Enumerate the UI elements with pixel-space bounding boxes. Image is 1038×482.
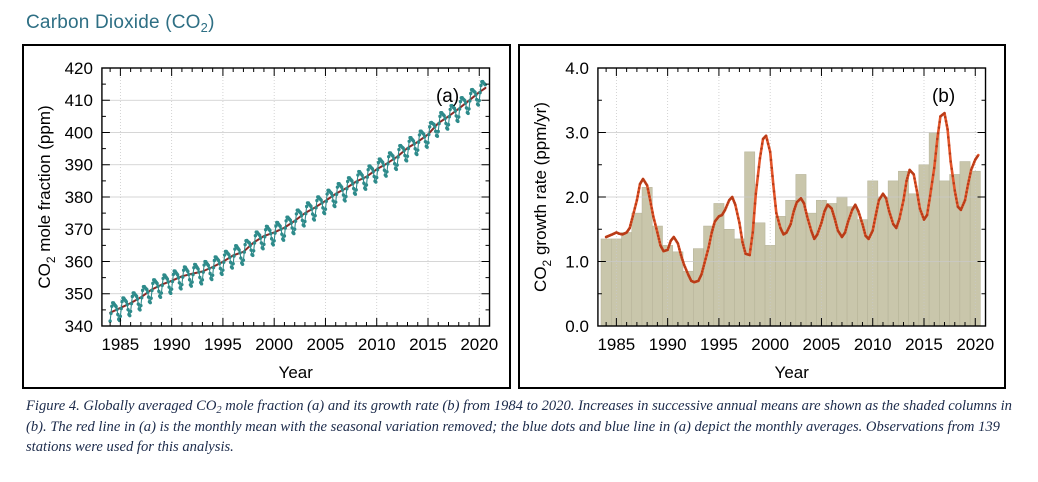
growth-rate-dot bbox=[648, 199, 650, 202]
growth-rate-dot bbox=[936, 138, 938, 141]
monthly-dot bbox=[418, 133, 421, 136]
monthly-dot bbox=[449, 108, 452, 111]
monthly-dot bbox=[405, 159, 408, 162]
monthly-dot bbox=[366, 175, 369, 178]
y-axis-title: CO2 mole fraction (ppm) bbox=[35, 105, 58, 288]
x-tick-label: 2000 bbox=[751, 335, 789, 354]
growth-rate-dot bbox=[848, 214, 850, 217]
growth-rate-dot bbox=[683, 266, 685, 269]
growth-rate-dot bbox=[965, 191, 967, 194]
growth-rate-dot bbox=[628, 227, 630, 230]
growth-rate-dot bbox=[667, 246, 669, 249]
monthly-dot bbox=[222, 261, 225, 264]
growth-rate-dot bbox=[928, 194, 930, 197]
growth-rate-dot bbox=[820, 222, 822, 225]
growth-rate-dot bbox=[708, 242, 710, 245]
growth-rate-dot bbox=[764, 134, 766, 137]
growth-rate-dot bbox=[736, 213, 738, 216]
monthly-dot bbox=[331, 194, 334, 197]
panel-b-box: 198519901995200020052010201520200.01.02.… bbox=[518, 44, 1007, 389]
monthly-dot bbox=[464, 101, 467, 104]
monthly-dot bbox=[146, 291, 149, 294]
growth-rate-dot bbox=[794, 205, 796, 208]
growth-rate-dot bbox=[914, 181, 916, 184]
x-tick-label: 2010 bbox=[358, 335, 396, 354]
monthly-dot bbox=[344, 195, 347, 198]
growth-rate-dot bbox=[654, 223, 656, 226]
growth-rate-dot bbox=[749, 243, 751, 246]
growth-rate-dot bbox=[753, 202, 755, 205]
growth-rate-dot bbox=[712, 223, 714, 226]
growth-rate-dot bbox=[778, 223, 780, 226]
growth-rate-dot bbox=[684, 268, 686, 271]
panel-tag-label: (a) bbox=[436, 86, 459, 107]
growth-rate-dot bbox=[751, 231, 753, 234]
growth-rate-dot bbox=[772, 183, 774, 186]
growth-rate-dot bbox=[710, 231, 712, 234]
annual-column bbox=[600, 239, 610, 326]
growth-rate-dot bbox=[791, 213, 793, 216]
growth-rate-dot bbox=[817, 230, 819, 233]
monthly-dot bbox=[171, 280, 174, 283]
panel-b-chart: 198519901995200020052010201520200.01.02.… bbox=[520, 46, 1005, 387]
growth-rate-dot bbox=[916, 194, 918, 197]
growth-rate-dot bbox=[725, 204, 727, 207]
monthly-dot bbox=[386, 162, 389, 165]
growth-rate-dot bbox=[753, 212, 755, 215]
growth-rate-dot bbox=[808, 226, 810, 229]
y-tick-label: 420 bbox=[65, 59, 93, 78]
monthly-dot bbox=[396, 163, 399, 166]
monthly-dot bbox=[177, 276, 180, 279]
monthly-dot bbox=[261, 247, 264, 250]
monthly-dot bbox=[407, 140, 410, 143]
monthly-dot bbox=[478, 99, 481, 102]
growth-rate-dot bbox=[678, 251, 680, 254]
caption-subscript: 2 bbox=[216, 405, 221, 416]
monthly-dot bbox=[187, 273, 190, 276]
monthly-dot bbox=[179, 287, 182, 290]
y-tick-label: 2.0 bbox=[565, 188, 589, 207]
monthly-dot bbox=[474, 93, 477, 96]
growth-rate-dot bbox=[740, 236, 742, 239]
x-tick-label: 2015 bbox=[905, 335, 943, 354]
growth-rate-dot bbox=[861, 226, 863, 229]
growth-rate-dot bbox=[711, 228, 713, 231]
growth-rate-dot bbox=[712, 226, 714, 229]
growth-rate-dot bbox=[757, 166, 759, 169]
growth-rate-dot bbox=[818, 227, 820, 230]
figure-panels: 1985199019952000200520102015202034035036… bbox=[22, 44, 1006, 389]
monthly-dot bbox=[304, 212, 307, 215]
growth-rate-dot bbox=[789, 223, 791, 226]
growth-rate-dot bbox=[849, 212, 851, 215]
monthly-dot bbox=[467, 107, 470, 110]
x-axis-title: Year bbox=[279, 363, 314, 382]
monthly-dot bbox=[263, 235, 266, 238]
monthly-dot bbox=[202, 270, 205, 273]
monthly-dot bbox=[448, 115, 451, 118]
monthly-dot bbox=[365, 183, 368, 186]
monthly-dot bbox=[210, 278, 213, 281]
annual-column bbox=[867, 181, 877, 326]
growth-rate-dot bbox=[749, 248, 751, 251]
monthly-dot bbox=[374, 180, 377, 183]
growth-rate-dot bbox=[919, 210, 921, 213]
monthly-dot bbox=[402, 149, 405, 152]
growth-rate-dot bbox=[951, 175, 953, 178]
monthly-dot bbox=[180, 283, 183, 286]
growth-rate-dot bbox=[756, 175, 758, 178]
growth-rate-dot bbox=[752, 222, 754, 225]
growth-rate-dot bbox=[885, 200, 887, 203]
growth-rate-dot bbox=[831, 210, 833, 213]
growth-rate-dot bbox=[895, 227, 897, 230]
growth-rate-dot bbox=[685, 271, 687, 274]
growth-rate-dot bbox=[742, 247, 744, 250]
monthly-dot bbox=[198, 276, 201, 279]
growth-rate-dot bbox=[944, 116, 946, 119]
growth-rate-dot bbox=[857, 210, 859, 213]
monthly-dot bbox=[125, 300, 128, 303]
monthly-dot bbox=[395, 168, 398, 171]
growth-rate-dot bbox=[759, 152, 761, 155]
growth-rate-dot bbox=[776, 216, 778, 219]
monthly-dot bbox=[283, 234, 286, 237]
growth-rate-dot bbox=[889, 216, 891, 219]
monthly-dot bbox=[314, 206, 317, 209]
monthly-dot bbox=[223, 253, 226, 256]
growth-rate-dot bbox=[656, 234, 658, 237]
growth-rate-dot bbox=[806, 219, 808, 222]
monthly-dot bbox=[437, 122, 440, 125]
growth-rate-dot bbox=[903, 189, 905, 192]
growth-rate-dot bbox=[804, 209, 806, 212]
monthly-dot bbox=[436, 135, 439, 138]
monthly-dot bbox=[478, 91, 481, 94]
monthly-dot bbox=[438, 115, 441, 118]
monthly-dot bbox=[302, 224, 305, 227]
monthly-dot bbox=[459, 100, 462, 103]
growth-rate-dot bbox=[971, 164, 973, 167]
growth-rate-dot bbox=[833, 218, 835, 221]
growth-rate-dot bbox=[926, 209, 928, 212]
monthly-dot bbox=[323, 212, 326, 215]
x-tick-label: 1985 bbox=[101, 335, 139, 354]
growth-rate-dot bbox=[901, 204, 903, 207]
y-tick-label: 400 bbox=[65, 123, 93, 142]
monthly-dot bbox=[232, 254, 235, 257]
growth-rate-dot bbox=[631, 215, 633, 218]
y-tick-label: 380 bbox=[65, 188, 93, 207]
growth-rate-dot bbox=[875, 210, 877, 213]
monthly-dot bbox=[366, 168, 369, 171]
monthly-dot bbox=[169, 292, 172, 295]
growth-rate-dot bbox=[952, 182, 954, 185]
growth-rate-dot bbox=[887, 210, 889, 213]
growth-rate-dot bbox=[702, 264, 704, 267]
monthly-dot bbox=[254, 234, 257, 237]
monthly-dot bbox=[220, 273, 223, 276]
growth-rate-dot bbox=[873, 218, 875, 221]
monthly-dot bbox=[469, 92, 472, 95]
x-tick-label: 2005 bbox=[307, 335, 345, 354]
annual-column bbox=[908, 194, 918, 326]
page-title-subscript: 2 bbox=[201, 20, 208, 35]
growth-rate-dot bbox=[861, 223, 863, 226]
monthly-dot bbox=[253, 241, 256, 244]
growth-rate-dot bbox=[705, 254, 707, 256]
x-tick-label: 2000 bbox=[255, 335, 293, 354]
monthly-dot bbox=[456, 120, 459, 123]
annual-column bbox=[734, 239, 744, 326]
monthly-dot bbox=[290, 221, 293, 224]
monthly-dot bbox=[364, 188, 367, 191]
monthly-dot bbox=[413, 142, 416, 145]
monthly-dot bbox=[201, 278, 204, 281]
growth-rate-dot bbox=[754, 193, 756, 196]
monthly-dot bbox=[128, 314, 131, 317]
growth-rate-dot bbox=[902, 199, 904, 202]
monthly-dot bbox=[314, 214, 317, 217]
growth-rate-dot bbox=[886, 203, 888, 206]
annual-column bbox=[744, 152, 754, 326]
monthly-dot bbox=[273, 231, 276, 234]
monthly-dot bbox=[375, 176, 378, 179]
monthly-dot bbox=[416, 148, 419, 151]
monthly-dot bbox=[181, 275, 184, 278]
growth-rate-dot bbox=[704, 258, 706, 261]
growth-rate-dot bbox=[656, 231, 658, 234]
growth-rate-dot bbox=[835, 223, 837, 226]
monthly-dot bbox=[303, 220, 306, 223]
monthly-dot bbox=[387, 155, 390, 158]
monthly-dot bbox=[186, 270, 189, 273]
monthly-dot bbox=[188, 278, 191, 281]
monthly-dot bbox=[284, 219, 287, 222]
growth-rate-dot bbox=[760, 143, 762, 146]
growth-rate-dot bbox=[900, 208, 902, 211]
growth-rate-dot bbox=[933, 167, 935, 170]
growth-rate-dot bbox=[636, 195, 638, 198]
monthly-dot bbox=[141, 289, 144, 292]
monthly-dot bbox=[484, 83, 487, 86]
growth-rate-dot bbox=[649, 203, 651, 206]
growth-rate-dot bbox=[769, 159, 771, 162]
growth-rate-dot bbox=[805, 215, 807, 218]
growth-rate-dot bbox=[678, 248, 680, 251]
annual-column bbox=[888, 181, 898, 326]
y-tick-label: 370 bbox=[65, 220, 93, 239]
monthly-dot bbox=[407, 147, 410, 150]
growth-rate-dot bbox=[701, 270, 703, 273]
growth-rate-dot bbox=[794, 203, 796, 206]
monthly-dot bbox=[241, 263, 244, 266]
growth-rate-dot bbox=[790, 220, 792, 223]
growth-rate-dot bbox=[949, 160, 951, 163]
x-tick-label: 1990 bbox=[648, 335, 686, 354]
growth-rate-dot bbox=[862, 229, 864, 232]
growth-rate-dot bbox=[821, 216, 823, 219]
growth-rate-dot bbox=[831, 213, 833, 216]
growth-rate-dot bbox=[735, 208, 737, 211]
growth-rate-dot bbox=[708, 239, 710, 242]
growth-rate-dot bbox=[966, 183, 968, 186]
y-tick-label: 3.0 bbox=[565, 123, 589, 142]
growth-rate-dot bbox=[741, 241, 743, 244]
monthly-dot bbox=[167, 280, 170, 283]
monthly-dot bbox=[346, 180, 349, 183]
growth-rate-dot bbox=[936, 132, 938, 135]
growth-rate-dot bbox=[903, 194, 905, 197]
growth-rate-dot bbox=[917, 203, 919, 206]
growth-rate-dot bbox=[724, 206, 726, 209]
growth-rate-dot bbox=[682, 261, 684, 264]
growth-rate-dot bbox=[962, 201, 964, 204]
monthly-dot bbox=[457, 115, 460, 118]
monthly-dot bbox=[334, 200, 337, 203]
growth-rate-dot bbox=[768, 151, 770, 154]
growth-rate-dot bbox=[676, 242, 678, 245]
growth-rate-dot bbox=[637, 191, 639, 194]
growth-rate-dot bbox=[723, 209, 725, 212]
monthly-dot bbox=[249, 244, 252, 247]
growth-rate-dot bbox=[884, 197, 886, 200]
growth-rate-dot bbox=[816, 233, 818, 236]
y-tick-label: 410 bbox=[65, 91, 93, 110]
monthly-dot bbox=[385, 170, 388, 173]
growth-rate-dot bbox=[667, 244, 669, 247]
growth-rate-dot bbox=[703, 262, 705, 265]
growth-rate-dot bbox=[846, 220, 848, 223]
monthly-dot bbox=[447, 123, 450, 126]
monthly-dot bbox=[196, 267, 199, 270]
monthly-dot bbox=[345, 187, 348, 190]
growth-rate-dot bbox=[953, 189, 955, 192]
monthly-dot bbox=[372, 170, 375, 173]
growth-rate-dot bbox=[652, 215, 654, 218]
growth-rate-dot bbox=[767, 147, 769, 150]
growth-rate-dot bbox=[955, 197, 957, 200]
monthly-dot bbox=[109, 312, 112, 315]
monthly-dot bbox=[156, 285, 159, 288]
monthly-dot bbox=[272, 239, 275, 242]
annual-column bbox=[847, 207, 857, 326]
growth-rate-dot bbox=[772, 190, 774, 193]
monthly-dot bbox=[313, 218, 316, 221]
monthly-dot bbox=[176, 273, 179, 276]
monthly-dot bbox=[396, 155, 399, 158]
growth-rate-dot bbox=[904, 184, 906, 187]
y-tick-label: 360 bbox=[65, 252, 93, 271]
growth-rate-dot bbox=[872, 225, 874, 228]
growth-rate-dot bbox=[959, 209, 961, 212]
growth-rate-dot bbox=[964, 195, 966, 198]
monthly-dot bbox=[208, 267, 211, 270]
growth-rate-dot bbox=[765, 139, 767, 142]
growth-rate-dot bbox=[944, 120, 946, 123]
growth-rate-dot bbox=[969, 169, 971, 172]
growth-rate-dot bbox=[657, 238, 659, 241]
growth-rate-dot bbox=[970, 166, 972, 169]
growth-rate-dot bbox=[738, 226, 740, 229]
monthly-dot bbox=[295, 212, 298, 215]
growth-rate-dot bbox=[963, 199, 965, 202]
growth-rate-dot bbox=[896, 222, 898, 225]
monthly-dot bbox=[324, 208, 327, 211]
monthly-dot bbox=[221, 268, 224, 271]
growth-rate-dot bbox=[912, 173, 914, 176]
x-tick-label: 1990 bbox=[153, 335, 191, 354]
monthly-dot bbox=[170, 287, 173, 290]
growth-rate-dot bbox=[859, 216, 861, 219]
x-axis-title: Year bbox=[774, 363, 809, 382]
monthly-dot bbox=[443, 117, 446, 120]
caption-line-1a: Figure 4. Globally averaged CO bbox=[26, 398, 216, 414]
monthly-dot bbox=[139, 304, 142, 307]
monthly-dot bbox=[269, 232, 272, 235]
growth-rate-dot bbox=[679, 254, 681, 256]
growth-rate-dot bbox=[874, 214, 876, 217]
monthly-dot bbox=[341, 188, 344, 191]
growth-rate-dot bbox=[738, 222, 740, 225]
growth-rate-dot bbox=[906, 177, 908, 180]
growth-rate-dot bbox=[925, 214, 927, 217]
y-axis-title: CO2 growth rate (ppm/yr) bbox=[530, 102, 553, 292]
panel-tag-label: (b) bbox=[931, 86, 954, 107]
monthly-dot bbox=[166, 277, 169, 280]
growth-rate-dot bbox=[890, 220, 892, 223]
growth-rate-dot bbox=[895, 224, 897, 227]
y-tick-label: 0.0 bbox=[565, 317, 589, 336]
growth-rate-dot bbox=[943, 112, 945, 115]
monthly-dot bbox=[126, 303, 129, 306]
monthly-dot bbox=[335, 193, 338, 196]
growth-rate-dot bbox=[653, 219, 655, 222]
monthly-dot bbox=[325, 192, 328, 195]
growth-rate-dot bbox=[937, 126, 939, 129]
monthly-dot bbox=[397, 148, 400, 151]
growth-rate-dot bbox=[906, 174, 908, 177]
monthly-dot bbox=[114, 305, 117, 308]
page-title: Carbon Dioxide (CO2) bbox=[26, 12, 215, 34]
growth-rate-dot bbox=[969, 172, 971, 175]
growth-rate-dot bbox=[633, 207, 635, 210]
growth-rate-dot bbox=[899, 213, 901, 216]
growth-rate-dot bbox=[966, 187, 968, 190]
x-tick-label: 2015 bbox=[409, 335, 447, 354]
growth-rate-dot bbox=[793, 208, 795, 211]
growth-rate-dot bbox=[646, 188, 648, 191]
growth-rate-dot bbox=[635, 199, 637, 202]
monthly-dot bbox=[228, 256, 231, 259]
monthly-dot bbox=[197, 270, 200, 273]
growth-rate-dot bbox=[771, 175, 773, 178]
y-tick-label: 4.0 bbox=[565, 59, 589, 78]
monthly-dot bbox=[218, 262, 221, 265]
growth-rate-dot bbox=[887, 207, 889, 210]
monthly-dot bbox=[355, 180, 358, 183]
growth-rate-dot bbox=[918, 207, 920, 210]
monthly-dot bbox=[259, 236, 262, 239]
growth-rate-dot bbox=[888, 213, 890, 216]
monthly-dot bbox=[212, 266, 215, 269]
monthly-dot bbox=[150, 289, 153, 292]
growth-rate-dot bbox=[946, 128, 948, 131]
x-tick-label: 1985 bbox=[597, 335, 635, 354]
growth-rate-dot bbox=[935, 145, 937, 148]
monthly-dot bbox=[262, 243, 265, 246]
